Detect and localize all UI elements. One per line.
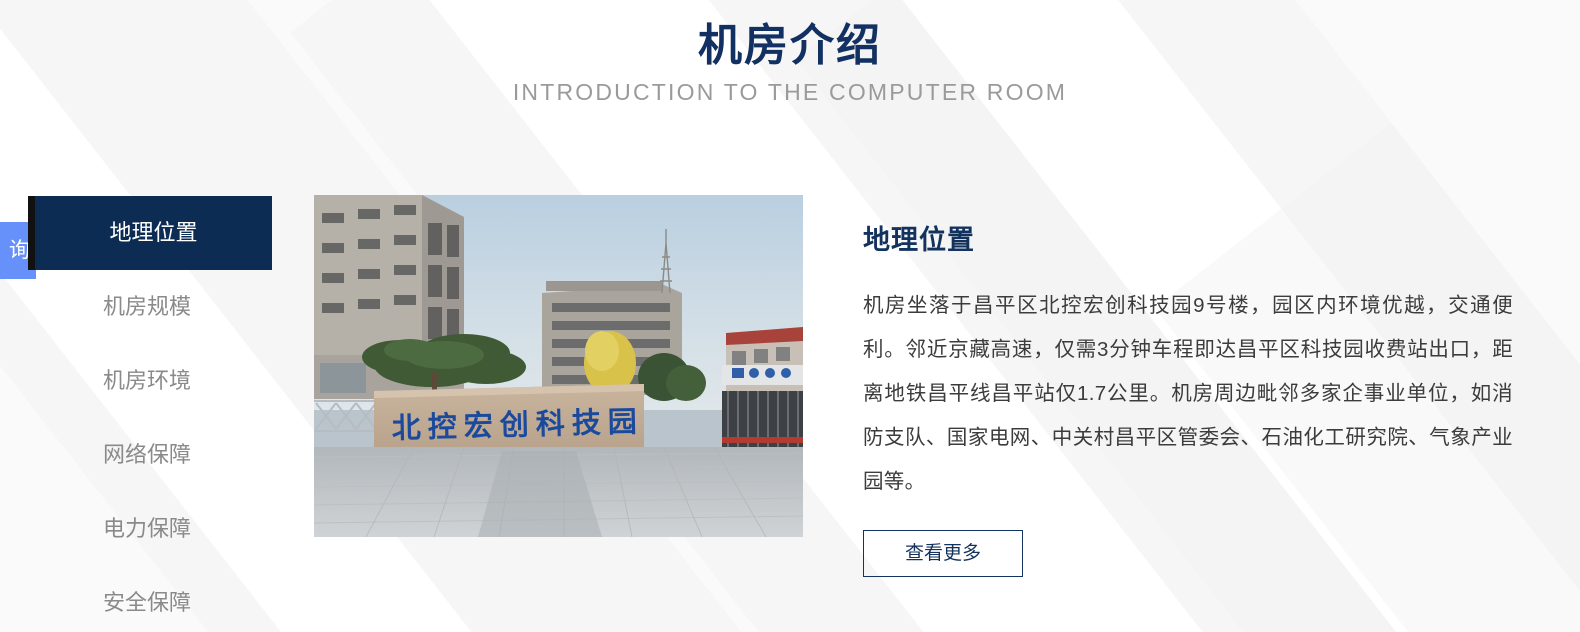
sidebar-item-network[interactable]: 网络保障	[28, 418, 266, 492]
sidebar-item-power[interactable]: 电力保障	[28, 492, 266, 566]
page-header: 机房介绍 INTRODUCTION TO THE COMPUTER ROOM	[0, 0, 1580, 106]
sidebar-item-label: 机房规模	[103, 294, 191, 319]
sidebar-item-label: 安全保障	[103, 590, 191, 615]
svg-text:技: 技	[571, 405, 601, 440]
page-title: 机房介绍	[0, 18, 1580, 73]
view-more-button[interactable]: 查看更多	[863, 530, 1023, 577]
side-tab-label: 询	[9, 239, 30, 262]
page-subtitle: INTRODUCTION TO THE COMPUTER ROOM	[0, 79, 1580, 106]
sidebar-item-label: 电力保障	[103, 516, 191, 541]
content-heading: 地理位置	[863, 218, 1513, 257]
svg-text:宏: 宏	[463, 408, 493, 443]
sidebar-item-label: 地理位置	[109, 220, 197, 245]
content-paragraph: 机房坐落于昌平区北控宏创科技园9号楼，园区内环境优越，交通便利。邻近京藏高速，仅…	[863, 284, 1513, 504]
sidebar-item-label: 机房环境	[103, 368, 191, 393]
svg-text:控: 控	[427, 409, 457, 444]
sidebar-item-scale[interactable]: 机房规模	[28, 270, 266, 344]
facility-photo: 北 控 宏 创 科 技 园	[314, 195, 803, 537]
sidebar-item-environment[interactable]: 机房环境	[28, 344, 266, 418]
svg-text:创: 创	[498, 407, 529, 442]
svg-text:科: 科	[535, 406, 565, 441]
content-panel: 地理位置 机房坐落于昌平区北控宏创科技园9号楼，园区内环境优越，交通便利。邻近京…	[863, 218, 1513, 577]
sidebar-item-security[interactable]: 安全保障	[28, 566, 266, 632]
sidebar-nav: 地理位置 机房规模 机房环境 网络保障 电力保障 安全保障	[28, 196, 266, 632]
sidebar-item-label: 网络保障	[103, 442, 191, 467]
svg-text:园: 园	[607, 404, 637, 439]
svg-text:北: 北	[391, 410, 421, 445]
sidebar-item-location[interactable]: 地理位置	[35, 196, 272, 270]
